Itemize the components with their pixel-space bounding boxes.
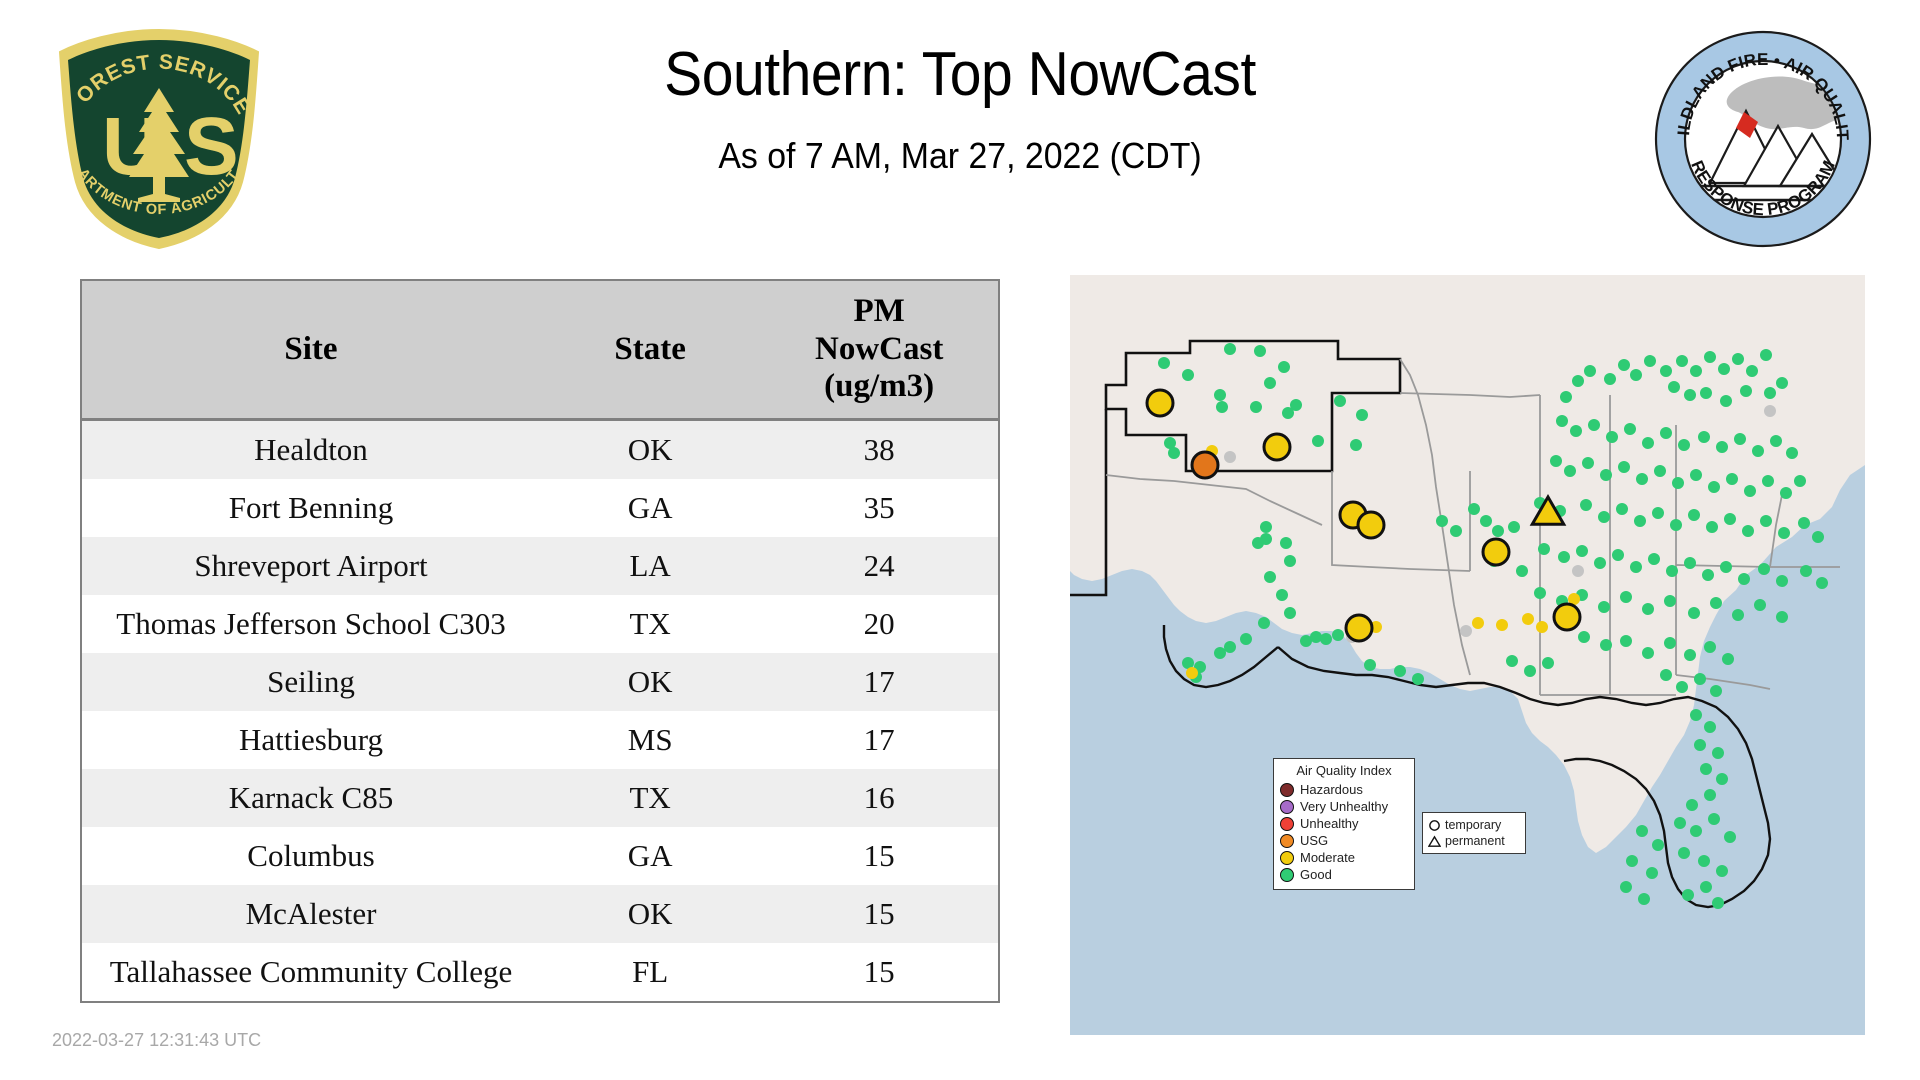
table-row: McAlesterOK15 (81, 885, 999, 943)
cell-state: OK (540, 885, 760, 943)
table-row: ColumbusGA15 (81, 827, 999, 885)
monitor-marker-temporary[interactable] (1358, 512, 1384, 538)
aqi-legend-row: Good (1280, 866, 1408, 883)
monitor-marker-temporary[interactable] (1483, 539, 1509, 565)
cell-pm-nowcast: 15 (760, 827, 999, 885)
cell-site: Columbus (81, 827, 540, 885)
cell-state: LA (540, 537, 760, 595)
column-header-pm-nowcast: PM NowCast (ug/m3) (760, 280, 999, 419)
table-row: Karnack C85TX16 (81, 769, 999, 827)
cell-pm-nowcast: 38 (760, 419, 999, 479)
wfaqrp-logo: WILDLAND FIRE • AIR QUALITY RESPONSE PRO… (1648, 28, 1878, 250)
column-header-state: State (540, 280, 760, 419)
title-block: Southern: Top NowCast As of 7 AM, Mar 27… (300, 42, 1620, 177)
legend-row-permanent: permanent (1428, 833, 1520, 849)
cell-site: Healdton (81, 419, 540, 479)
cell-site: Hattiesburg (81, 711, 540, 769)
cell-state: GA (540, 827, 760, 885)
monitor-marker-temporary[interactable] (1554, 604, 1580, 630)
nowcast-table: Site State PM NowCast (ug/m3) HealdtonOK… (80, 279, 1000, 1003)
legend-label-temporary: temporary (1445, 818, 1501, 832)
monitor-type-legend: temporary permanent (1422, 812, 1526, 854)
aqi-legend-label: Hazardous (1300, 783, 1363, 796)
aqi-legend-row: USG (1280, 832, 1408, 849)
table-row: Shreveport AirportLA24 (81, 537, 999, 595)
monitor-marker-temporary[interactable] (1264, 434, 1290, 460)
page-subtitle: As of 7 AM, Mar 27, 2022 (CDT) (340, 135, 1581, 177)
aqi-legend: Air Quality Index HazardousVery Unhealth… (1273, 758, 1415, 890)
generation-timestamp: 2022-03-27 12:31:43 UTC (52, 1030, 261, 1051)
table-row: Thomas Jefferson School C303TX20 (81, 595, 999, 653)
aqi-legend-rows: HazardousVery UnhealthyUnhealthyUSGModer… (1280, 781, 1408, 883)
cell-site: Karnack C85 (81, 769, 540, 827)
cell-pm-nowcast: 17 (760, 653, 999, 711)
cell-pm-nowcast: 16 (760, 769, 999, 827)
pm-header-line-2: NowCast (764, 331, 994, 369)
aqi-legend-row: Hazardous (1280, 781, 1408, 798)
aqi-legend-row: Unhealthy (1280, 815, 1408, 832)
cell-state: OK (540, 653, 760, 711)
cell-pm-nowcast: 15 (760, 943, 999, 1002)
table-row: Fort BenningGA35 (81, 479, 999, 537)
cell-site: Tallahassee Community College (81, 943, 540, 1002)
monitor-marker-temporary[interactable] (1346, 615, 1372, 641)
aqi-swatch-icon (1280, 851, 1294, 865)
cell-state: GA (540, 479, 760, 537)
aqi-legend-label: Unhealthy (1300, 817, 1359, 830)
cell-pm-nowcast: 17 (760, 711, 999, 769)
table-row: SeilingOK17 (81, 653, 999, 711)
aqi-swatch-icon (1280, 834, 1294, 848)
monitor-map[interactable]: Air Quality Index HazardousVery Unhealth… (1070, 275, 1865, 1035)
circle-glyph-icon (1428, 819, 1441, 832)
legend-label-permanent: permanent (1445, 834, 1505, 848)
table-row: HealdtonOK38 (81, 419, 999, 479)
cell-site: McAlester (81, 885, 540, 943)
page-title: Southern: Top NowCast (353, 42, 1567, 109)
cell-state: TX (540, 769, 760, 827)
table-head: Site State PM NowCast (ug/m3) (81, 280, 999, 419)
triangle-glyph-icon (1428, 835, 1441, 848)
aqi-swatch-icon (1280, 868, 1294, 882)
pm-header-line-1: PM (764, 293, 994, 331)
table-body: HealdtonOK38Fort BenningGA35Shreveport A… (81, 419, 999, 1002)
fs-monogram-s: S (184, 101, 239, 192)
aqi-legend-title: Air Quality Index (1280, 763, 1408, 778)
cell-site: Thomas Jefferson School C303 (81, 595, 540, 653)
table-row: Tallahassee Community CollegeFL15 (81, 943, 999, 1002)
cell-site: Seiling (81, 653, 540, 711)
aqi-legend-row: Moderate (1280, 849, 1408, 866)
monitor-marker-temporary[interactable] (1192, 452, 1218, 478)
aqi-legend-label: Good (1300, 868, 1332, 881)
aqi-legend-row: Very Unhealthy (1280, 798, 1408, 815)
cell-pm-nowcast: 35 (760, 479, 999, 537)
cell-pm-nowcast: 15 (760, 885, 999, 943)
pm-header-line-3: (ug/m3) (764, 368, 994, 406)
cell-site: Fort Benning (81, 479, 540, 537)
monitor-marker-temporary[interactable] (1147, 390, 1173, 416)
table-row: HattiesburgMS17 (81, 711, 999, 769)
aqi-swatch-icon (1280, 800, 1294, 814)
column-header-site: Site (81, 280, 540, 419)
usda-forest-service-shield-logo: FOREST SERVICE DEPARTMENT OF AGRICULTURE… (52, 26, 267, 251)
cell-pm-nowcast: 20 (760, 595, 999, 653)
page-header: FOREST SERVICE DEPARTMENT OF AGRICULTURE… (0, 0, 1920, 250)
aqi-swatch-icon (1280, 817, 1294, 831)
aqi-legend-label: USG (1300, 834, 1328, 847)
cell-state: TX (540, 595, 760, 653)
nowcast-table-panel: Site State PM NowCast (ug/m3) HealdtonOK… (80, 279, 1000, 1003)
cell-pm-nowcast: 24 (760, 537, 999, 595)
legend-row-temporary: temporary (1428, 817, 1520, 833)
table-header-row: Site State PM NowCast (ug/m3) (81, 280, 999, 419)
cell-state: OK (540, 419, 760, 479)
aqi-swatch-icon (1280, 783, 1294, 797)
cell-site: Shreveport Airport (81, 537, 540, 595)
cell-state: MS (540, 711, 760, 769)
aqi-legend-label: Moderate (1300, 851, 1355, 864)
aqi-legend-label: Very Unhealthy (1300, 800, 1388, 813)
cell-state: FL (540, 943, 760, 1002)
